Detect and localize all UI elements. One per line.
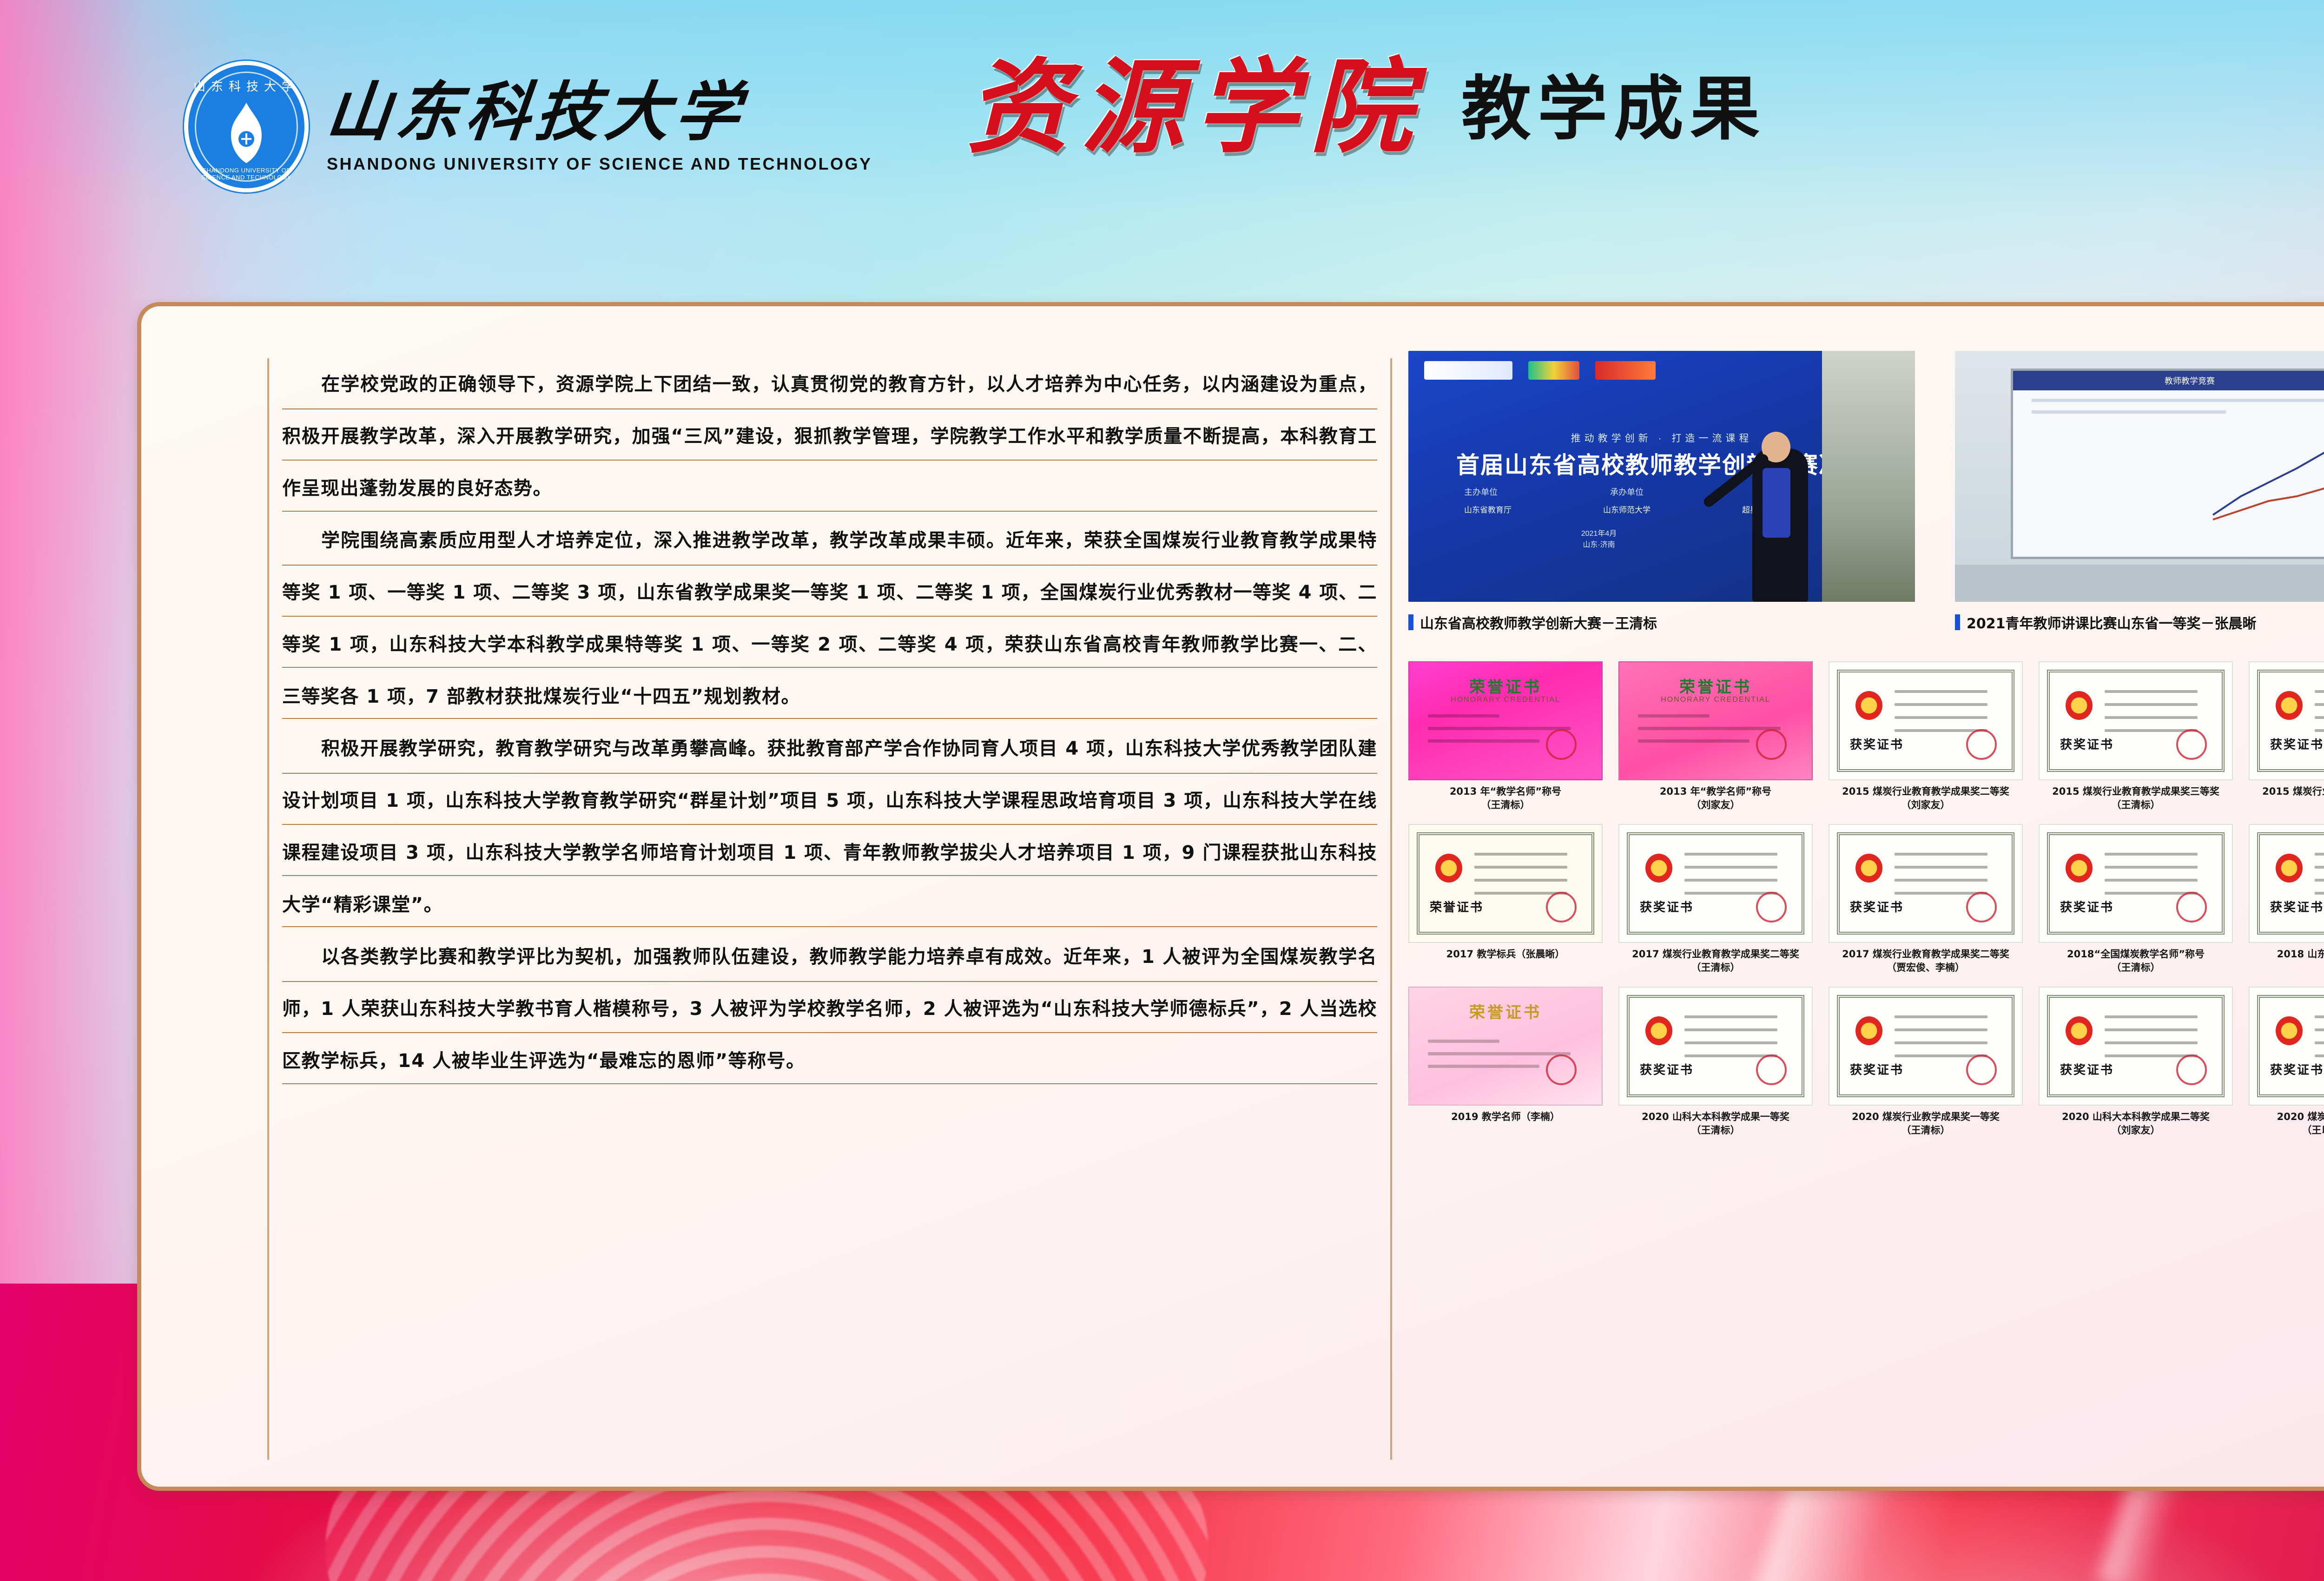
national-emblem-icon <box>1435 854 1462 883</box>
certificate-detail-lines <box>2315 690 2324 742</box>
main-title-block: 资源学院 教学成果 <box>967 56 1766 158</box>
national-emblem-icon <box>2276 1016 2303 1045</box>
certificate-grid: 荣誉证书HONORARY CREDENTIAL2013 年“教学名师”称号（王清… <box>1408 661 2324 1137</box>
certificate-red-stamp-icon <box>1546 892 1577 922</box>
certificate-red-stamp-icon <box>2176 1054 2207 1085</box>
org-label-2: 承办单位 <box>1610 486 1644 498</box>
certificate-image: 获奖证书 <box>2249 987 2324 1106</box>
org-label-1: 主办单位 <box>1464 486 1498 498</box>
photo2-screen-chart-icon <box>2208 441 2324 524</box>
media-column: 推动教学创新 · 打造一流课程 首届山东省高校教师教学创新大赛决赛 主办单位 承… <box>1408 351 2324 1466</box>
certificate-type-label: 获奖证书 <box>2270 898 2324 915</box>
certificate-caption: 2018“全国煤炭教学名师”称号（王清标） <box>2039 948 2233 975</box>
caption-bar-icon <box>1955 614 1960 630</box>
body-paragraph-2: 学院围绕高素质应用型人才培养定位，深入推进教学改革，教学改革成果丰硕。近年来，荣… <box>282 514 1377 723</box>
certificate-image: 获奖证书 <box>2039 987 2233 1106</box>
certificate-cell[interactable]: 荣誉证书HONORARY CREDENTIAL2013 年“教学名师”称号（刘家… <box>1618 661 1813 812</box>
certificate-red-stamp-icon <box>1756 892 1787 922</box>
certificate-row: 荣誉证书2017 教学标兵（张晨晰）获奖证书2017 煤炭行业教育教学成果奖二等… <box>1408 824 2324 975</box>
certificate-caption: 2019 教学名师（李楠） <box>1408 1110 1603 1124</box>
certificate-cell[interactable]: 获奖证书2015 煤炭行业教育教学成果奖特等奖（王清标） <box>2249 661 2324 812</box>
certificate-red-stamp-icon <box>1966 1054 1997 1085</box>
org-value-1: 山东省教育厅 <box>1464 503 1512 515</box>
certificate-type-label: 获奖证书 <box>2270 1061 2324 1078</box>
certificate-caption: 2020 山科大本科教学成果二等奖（刘家友） <box>2039 1110 2233 1137</box>
certificate-caption: 2013 年“教学名师”称号（刘家友） <box>1618 785 1813 812</box>
certificate-detail-lines <box>2315 1015 2324 1067</box>
certificate-red-stamp-icon <box>2176 892 2207 922</box>
national-emblem-icon <box>1645 854 1672 883</box>
photo-caption-2-text: 2021青年教师讲课比赛山东省一等奖－张晨晰 <box>1967 612 2257 632</box>
certificate-title: 荣誉证书 <box>1619 674 1812 697</box>
national-emblem-icon <box>2066 691 2093 720</box>
national-emblem-icon <box>1855 691 1882 720</box>
certificate-caption: 2020 山科大本科教学成果一等奖（王清标） <box>1618 1110 1813 1137</box>
certificate-image: 获奖证书 <box>2249 824 2324 943</box>
certificate-image: 获奖证书 <box>2249 661 2324 780</box>
national-emblem-icon <box>1855 854 1882 883</box>
body-paragraph-1: 在学校党政的正确领导下，资源学院上下团结一致，认真贯彻党的教育方针，以人才培养为… <box>282 358 1377 514</box>
university-logo-block: 山东科技大学 SHANDONG UNIVERSITY OF SCIENCE AN… <box>188 65 872 188</box>
national-emblem-icon <box>2066 854 2093 883</box>
body-paragraph-3: 积极开展教学研究，教育教学研究与改革勇攀高峰。获批教育部产学合作协同育人项目 4… <box>282 723 1377 931</box>
photo-cell-1: 推动教学创新 · 打造一流课程 首届山东省高校教师教学创新大赛决赛 主办单位 承… <box>1408 351 1915 632</box>
certificate-subtitle: HONORARY CREDENTIAL <box>1619 696 1812 704</box>
certificate-ornate-border <box>2257 670 2324 772</box>
certificate-caption: 2015 煤炭行业教育教学成果奖三等奖（王清标） <box>2039 785 2233 812</box>
logo-tic-icon <box>1528 361 1579 380</box>
certificate-caption: 2015 煤炭行业教育教学成果奖特等奖（王清标） <box>2249 785 2324 812</box>
certificate-red-stamp-icon <box>1966 729 1997 760</box>
certificate-red-stamp-icon <box>1756 1054 1787 1085</box>
university-name-block: 山东科技大学 SHANDONG UNIVERSITY OF SCIENCE AN… <box>327 80 872 174</box>
national-emblem-icon <box>2276 691 2303 720</box>
photo2-screen-line <box>2032 399 2324 402</box>
photo-caption-1: 山东省高校教师教学创新大赛－王清标 <box>1408 612 1915 632</box>
certificate-cell[interactable]: 获奖证书2020 山科大本科教学成果二等奖（刘家友） <box>2039 987 2233 1137</box>
seal-english-text: SHANDONG UNIVERSITY OF SCIENCE AND TECHN… <box>188 167 304 181</box>
certificate-cell[interactable]: 荣誉证书HONORARY CREDENTIAL2013 年“教学名师”称号（王清… <box>1408 661 1603 812</box>
certificate-type-label: 获奖证书 <box>2060 1061 2114 1078</box>
national-emblem-icon <box>1855 1016 1882 1045</box>
page-title-college: 资源学院 <box>967 56 1424 158</box>
photo2-screen-line <box>2032 410 2226 414</box>
content-panel: 在学校党政的正确领导下，资源学院上下团结一致，认真贯彻党的教育方针，以人才培养为… <box>137 302 2324 1491</box>
certificate-cell[interactable]: 荣誉证书2017 教学标兵（张晨晰） <box>1408 824 1603 975</box>
photo1-wall <box>1822 351 1915 602</box>
photo1-org-labels: 主办单位 承办单位 协助单位 <box>1464 486 1789 498</box>
university-name-chinese: 山东科技大学 <box>324 80 876 144</box>
photo1-org-values: 山东省教育厅 山东师范大学 超星集团山东 <box>1464 503 1789 515</box>
certificate-caption: 2020 煤炭行业优秀教材一等奖（王以功、刘家友） <box>2249 1110 2324 1137</box>
photo1-date-text: 2021年4月 <box>1548 528 1650 540</box>
certificate-detail-lines <box>2315 853 2324 905</box>
certificate-cell[interactable]: 获奖证书2020 山科大本科教学成果一等奖（王清标） <box>1618 987 1813 1137</box>
certificate-row: 荣誉证书HONORARY CREDENTIAL2013 年“教学名师”称号（王清… <box>1408 661 2324 812</box>
certificate-type-label: 获奖证书 <box>2270 735 2324 752</box>
university-seal-icon: 山东科技大学 SHANDONG UNIVERSITY OF SCIENCE AN… <box>188 65 304 188</box>
certificate-type-label: 荣誉证书 <box>1430 898 1484 915</box>
certificate-red-stamp-icon <box>1756 729 1787 760</box>
certificate-cell[interactable]: 获奖证书2015 煤炭行业教育教学成果奖二等奖（刘家友） <box>1829 661 2023 812</box>
certificate-red-stamp-icon <box>1546 729 1577 760</box>
certificate-caption: 2015 煤炭行业教育教学成果奖二等奖（刘家友） <box>1829 785 2023 812</box>
certificate-red-stamp-icon <box>1966 892 1997 922</box>
photo2-floor <box>1955 565 2324 602</box>
photo2-screen-title: 教师教学竞赛 <box>2013 371 2324 390</box>
university-name-english: SHANDONG UNIVERSITY OF SCIENCE AND TECHN… <box>327 154 872 174</box>
certificate-image: 获奖证书 <box>1618 987 1813 1106</box>
body-paragraph-4: 以各类教学比赛和教学评比为契机，加强教师队伍建设，教师教学能力培养卓有成效。近年… <box>282 931 1377 1087</box>
certificate-cell[interactable]: 荣誉证书2019 教学名师（李楠） <box>1408 987 1603 1137</box>
certificate-cell[interactable]: 获奖证书2018“全国煤炭教学名师”称号（王清标） <box>2039 824 2233 975</box>
certificate-type-label: 获奖证书 <box>1640 898 1694 915</box>
poster-header: 山东科技大学 SHANDONG UNIVERSITY OF SCIENCE AN… <box>0 0 2324 297</box>
certificate-image: 荣誉证书HONORARY CREDENTIAL <box>1618 661 1813 780</box>
photo1-person <box>1752 448 1808 602</box>
photo1-logo-strip <box>1424 361 1656 380</box>
certificate-caption: 2020 煤炭行业教学成果奖一等奖（王清标） <box>1829 1110 2023 1137</box>
certificate-ornate-border <box>2257 832 2324 935</box>
photo-row: 推动教学创新 · 打造一流课程 首届山东省高校教师教学创新大赛决赛 主办单位 承… <box>1408 351 2324 632</box>
certificate-image: 荣誉证书 <box>1408 987 1603 1106</box>
certificate-subtitle: HONORARY CREDENTIAL <box>1409 696 1602 704</box>
seal-chinese-text: 山东科技大学 <box>188 77 304 94</box>
certificate-type-label: 获奖证书 <box>1640 1061 1694 1078</box>
certificate-image: 荣誉证书HONORARY CREDENTIAL <box>1408 661 1603 780</box>
photo1-place-text: 山东·济南 <box>1548 540 1650 551</box>
certificate-image: 获奖证书 <box>2039 824 2233 943</box>
certificate-row: 荣誉证书2019 教学名师（李楠）获奖证书2020 山科大本科教学成果一等奖（王… <box>1408 987 2324 1137</box>
certificate-image: 获奖证书 <box>1829 661 2023 780</box>
caption-bar-icon <box>1408 614 1413 630</box>
certificate-image: 荣誉证书 <box>1408 824 1603 943</box>
page-title-subject: 教学成果 <box>1461 73 1766 158</box>
certificate-title: 荣誉证书 <box>1409 674 1602 697</box>
certificate-type-label: 获奖证书 <box>2060 735 2114 752</box>
certificate-caption: 2017 煤炭行业教育教学成果奖二等奖（贾宏俊、李楠） <box>1829 948 2023 975</box>
national-emblem-icon <box>1645 1016 1672 1045</box>
photo1-event-date: 2021年4月 山东·济南 <box>1548 528 1650 551</box>
certificate-cell[interactable]: 获奖证书2018 山东省教学成果奖二等奖（王清标） <box>2249 824 2324 975</box>
content-panel-inner: 在学校党政的正确领导下，资源学院上下团结一致，认真贯彻党的教育方针，以人才培养为… <box>153 318 2324 1475</box>
body-text-column: 在学校党政的正确领导下，资源学院上下团结一致，认真贯彻党的教育方针，以人才培养为… <box>267 358 1392 1460</box>
certificate-caption: 2017 煤炭行业教育教学成果奖二等奖（王清标） <box>1618 948 1813 975</box>
certificate-title: 荣誉证书 <box>1409 1000 1602 1022</box>
certificate-type-label: 获奖证书 <box>1850 1061 1904 1078</box>
certificate-type-label: 获奖证书 <box>1850 735 1904 752</box>
certificate-ornate-border <box>2257 995 2324 1097</box>
logo-chaoxing-icon <box>1595 361 1656 380</box>
certificate-type-label: 获奖证书 <box>2060 898 2114 915</box>
photo2-projection-screen: 教师教学竞赛 <box>2011 369 2324 559</box>
logo-sdnu-icon <box>1424 361 1512 380</box>
photo-caption-1-text: 山东省高校教师教学创新大赛－王清标 <box>1420 612 1657 632</box>
photo-innovation-competition: 推动教学创新 · 打造一流课程 首届山东省高校教师教学创新大赛决赛 主办单位 承… <box>1408 351 1915 602</box>
certificate-red-stamp-icon <box>2176 729 2207 760</box>
certificate-image: 获奖证书 <box>1618 824 1813 943</box>
certificate-type-label: 获奖证书 <box>1850 898 1904 915</box>
certificate-caption: 2013 年“教学名师”称号（王清标） <box>1408 785 1603 812</box>
certificate-cell[interactable]: 获奖证书2017 煤炭行业教育教学成果奖二等奖（王清标） <box>1618 824 1813 975</box>
certificate-image: 获奖证书 <box>1829 824 2023 943</box>
national-emblem-icon <box>2276 854 2303 883</box>
photo-lecture-competition: 教师教学竞赛 <box>1955 351 2324 602</box>
certificate-image: 获奖证书 <box>2039 661 2233 780</box>
photo-cell-2: 教师教学竞赛 2021青年教师讲课比赛山东省一等奖－张晨晰 <box>1955 351 2324 632</box>
seal-flame-icon <box>219 100 274 165</box>
certificate-cell[interactable]: 获奖证书2017 煤炭行业教育教学成果奖二等奖（贾宏俊、李楠） <box>1829 824 2023 975</box>
photo-caption-2: 2021青年教师讲课比赛山东省一等奖－张晨晰 <box>1955 612 2324 632</box>
certificate-cell[interactable]: 获奖证书2015 煤炭行业教育教学成果奖三等奖（王清标） <box>2039 661 2233 812</box>
org-value-2: 山东师范大学 <box>1603 503 1651 515</box>
certificate-cell[interactable]: 获奖证书2020 煤炭行业优秀教材一等奖（王以功、刘家友） <box>2249 987 2324 1137</box>
certificate-caption: 2017 教学标兵（张晨晰） <box>1408 948 1603 961</box>
national-emblem-icon <box>2066 1016 2093 1045</box>
certificate-red-stamp-icon <box>1546 1054 1577 1085</box>
certificate-image: 获奖证书 <box>1829 987 2023 1106</box>
certificate-cell[interactable]: 获奖证书2020 煤炭行业教学成果奖一等奖（王清标） <box>1829 987 2023 1137</box>
certificate-caption: 2018 山东省教学成果奖二等奖（王清标） <box>2249 948 2324 975</box>
